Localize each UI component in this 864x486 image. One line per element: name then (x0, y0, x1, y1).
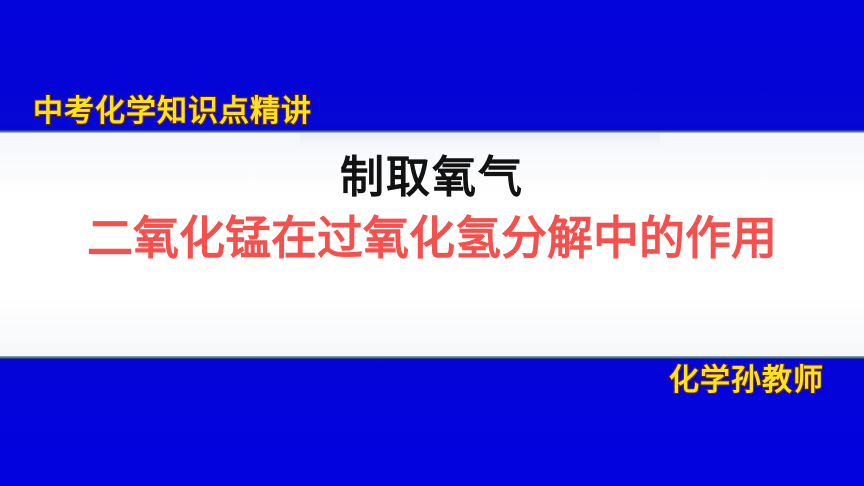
page-title: 制取氧气 (0, 153, 864, 202)
title-stage: 制取氧气 二氧化锰在过氧化氢分解中的作用 (0, 133, 864, 356)
course-kicker-label: 中考化学知识点精讲 (33, 97, 312, 127)
top-blue-band: 中考化学知识点精讲 (0, 0, 864, 133)
bottom-blue-band: 化学孙教师 (0, 356, 864, 486)
instructor-byline-label: 化学孙教师 (669, 366, 824, 396)
page-subtitle: 二氧化锰在过氧化氢分解中的作用 (0, 213, 864, 265)
lecture-title-slide: 中考化学知识点精讲 制取氧气 二氧化锰在过氧化氢分解中的作用 化学孙教师 (0, 0, 864, 486)
stage-sheen-decoration (300, 133, 660, 147)
